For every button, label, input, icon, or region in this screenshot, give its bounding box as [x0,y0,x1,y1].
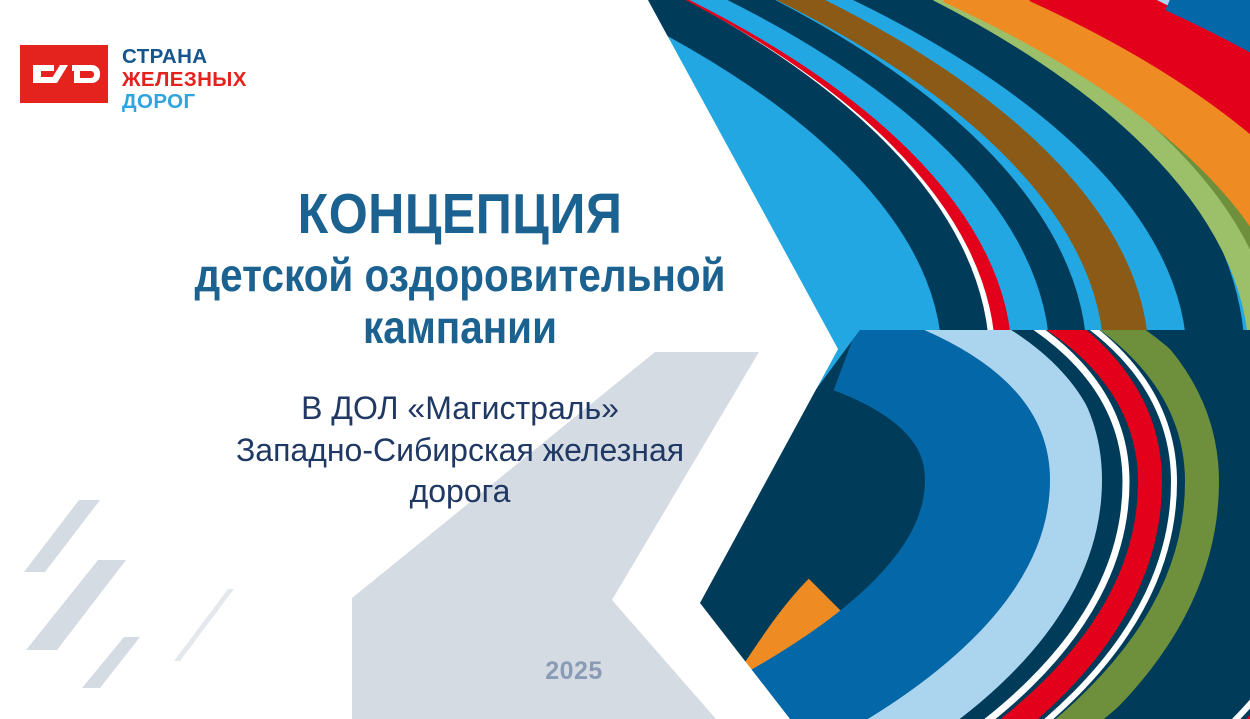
lower-cyan [936,214,1250,719]
lower-brown [1010,192,1250,719]
band-white-hair-1 [613,0,993,719]
band-navy-3 [836,0,1216,719]
band-pale-blue [1124,0,1250,719]
band-cyan-1 [652,0,1032,719]
rzd-logo-wordmark: СТРАНА ЖЕЛЕЗНЫХ ДОРОГ [122,45,247,113]
wave-band-group-upper [600,0,1250,719]
slash-2 [26,560,126,650]
logo-word-line3: ДОРОГ [122,92,247,113]
presentation-slide: СТРАНА ЖЕЛЕЗНЫХ ДОРОГ КОНЦЕПЦИЯ детской … [0,0,1250,719]
subtitle-line2: Западно-Сибирская железная [140,430,780,472]
band-brown-1 [748,0,1128,719]
slash-thin [174,589,234,661]
year-label: 2025 [474,657,674,686]
band-orange [962,0,1250,719]
band-green-light [884,0,1250,719]
subtitle-line3: дорога [140,471,780,513]
rzd-logo-mark [20,45,108,103]
lower-red-2 [898,230,1250,719]
logo-word-line1: СТРАНА [122,47,247,68]
band-cyan-3 [790,0,1170,719]
band-navy-2 [690,0,1070,719]
band-red-2 [1048,0,1250,719]
page-title-line3: кампании [161,302,759,354]
wave-base-cyan [640,0,1250,719]
band-green-olive [908,0,1250,719]
subtitle-block: В ДОЛ «Магистраль» Западно-Сибирская жел… [140,388,780,513]
subtitle-line1: В ДОЛ «Магистраль» [140,388,780,430]
lower-red [752,282,1150,719]
band-cyan-2 [718,0,1098,719]
band-red-outer [625,0,1005,719]
lower-orange [700,600,830,719]
slash-1 [24,500,100,572]
rzd-logo: СТРАНА ЖЕЛЕЗНЫХ ДОРОГ [20,45,247,113]
band-navy-outer [600,0,980,719]
decorative-slashes [24,500,140,688]
logo-word-line2: ЖЕЛЕЗНЫХ [122,70,247,91]
title-block: КОНЦЕПЦИЯ детской оздоровительной кампан… [120,185,800,353]
wave-lower-base-navy [640,320,1250,719]
lower-medium-blue [660,320,1000,719]
page-title-secondary: детской оздоровительной кампании [161,250,759,353]
band-medium-blue [1188,0,1250,719]
slash-3 [82,637,140,688]
page-title: КОНЦЕПЦИЯ [161,185,759,244]
lower-navy-2 [834,252,1250,719]
lower-olive [786,268,1202,719]
lower-navy-hair [726,292,1112,719]
page-title-line2: детской оздоровительной [161,250,759,302]
lower-white-hair-2 [768,276,1174,719]
lower-white-hair-3 [882,236,1250,719]
